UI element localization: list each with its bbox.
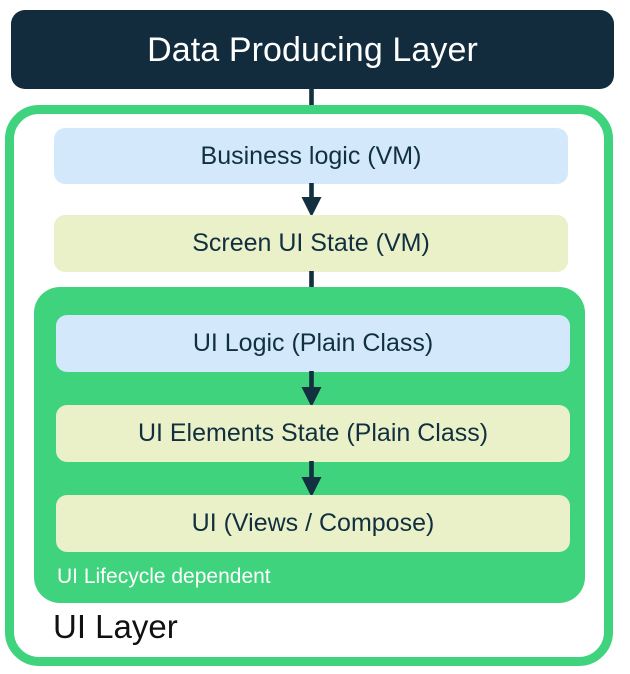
- arrow-uilogic-to-uielements-icon: [298, 371, 325, 407]
- node-ui-views-label: UI (Views / Compose): [192, 511, 435, 536]
- arrow-uielements-to-uiviews-icon: [298, 461, 325, 497]
- node-ui-elements-state: UI Elements State (Plain Class): [56, 405, 570, 462]
- node-ui-logic-label: UI Logic (Plain Class): [193, 331, 433, 356]
- ui-lifecycle-dependent-label: UI Lifecycle dependent: [57, 566, 271, 587]
- data-producing-layer-label: Data Producing Layer: [147, 33, 478, 67]
- node-ui-logic: UI Logic (Plain Class): [56, 315, 570, 372]
- node-screen-ui-state-label: Screen UI State (VM): [192, 231, 430, 256]
- arrow-business-to-screen-icon: [298, 183, 325, 217]
- node-business-logic: Business logic (VM): [54, 128, 568, 184]
- node-business-logic-label: Business logic (VM): [201, 144, 422, 169]
- ui-layer-label: UI Layer: [53, 610, 178, 643]
- node-ui-elements-state-label: UI Elements State (Plain Class): [138, 421, 488, 446]
- node-screen-ui-state: Screen UI State (VM): [54, 215, 568, 272]
- node-ui-views: UI (Views / Compose): [56, 495, 570, 552]
- data-producing-layer-box: Data Producing Layer: [11, 10, 614, 89]
- architecture-diagram: Data Producing Layer Business logic (VM)…: [0, 0, 630, 674]
